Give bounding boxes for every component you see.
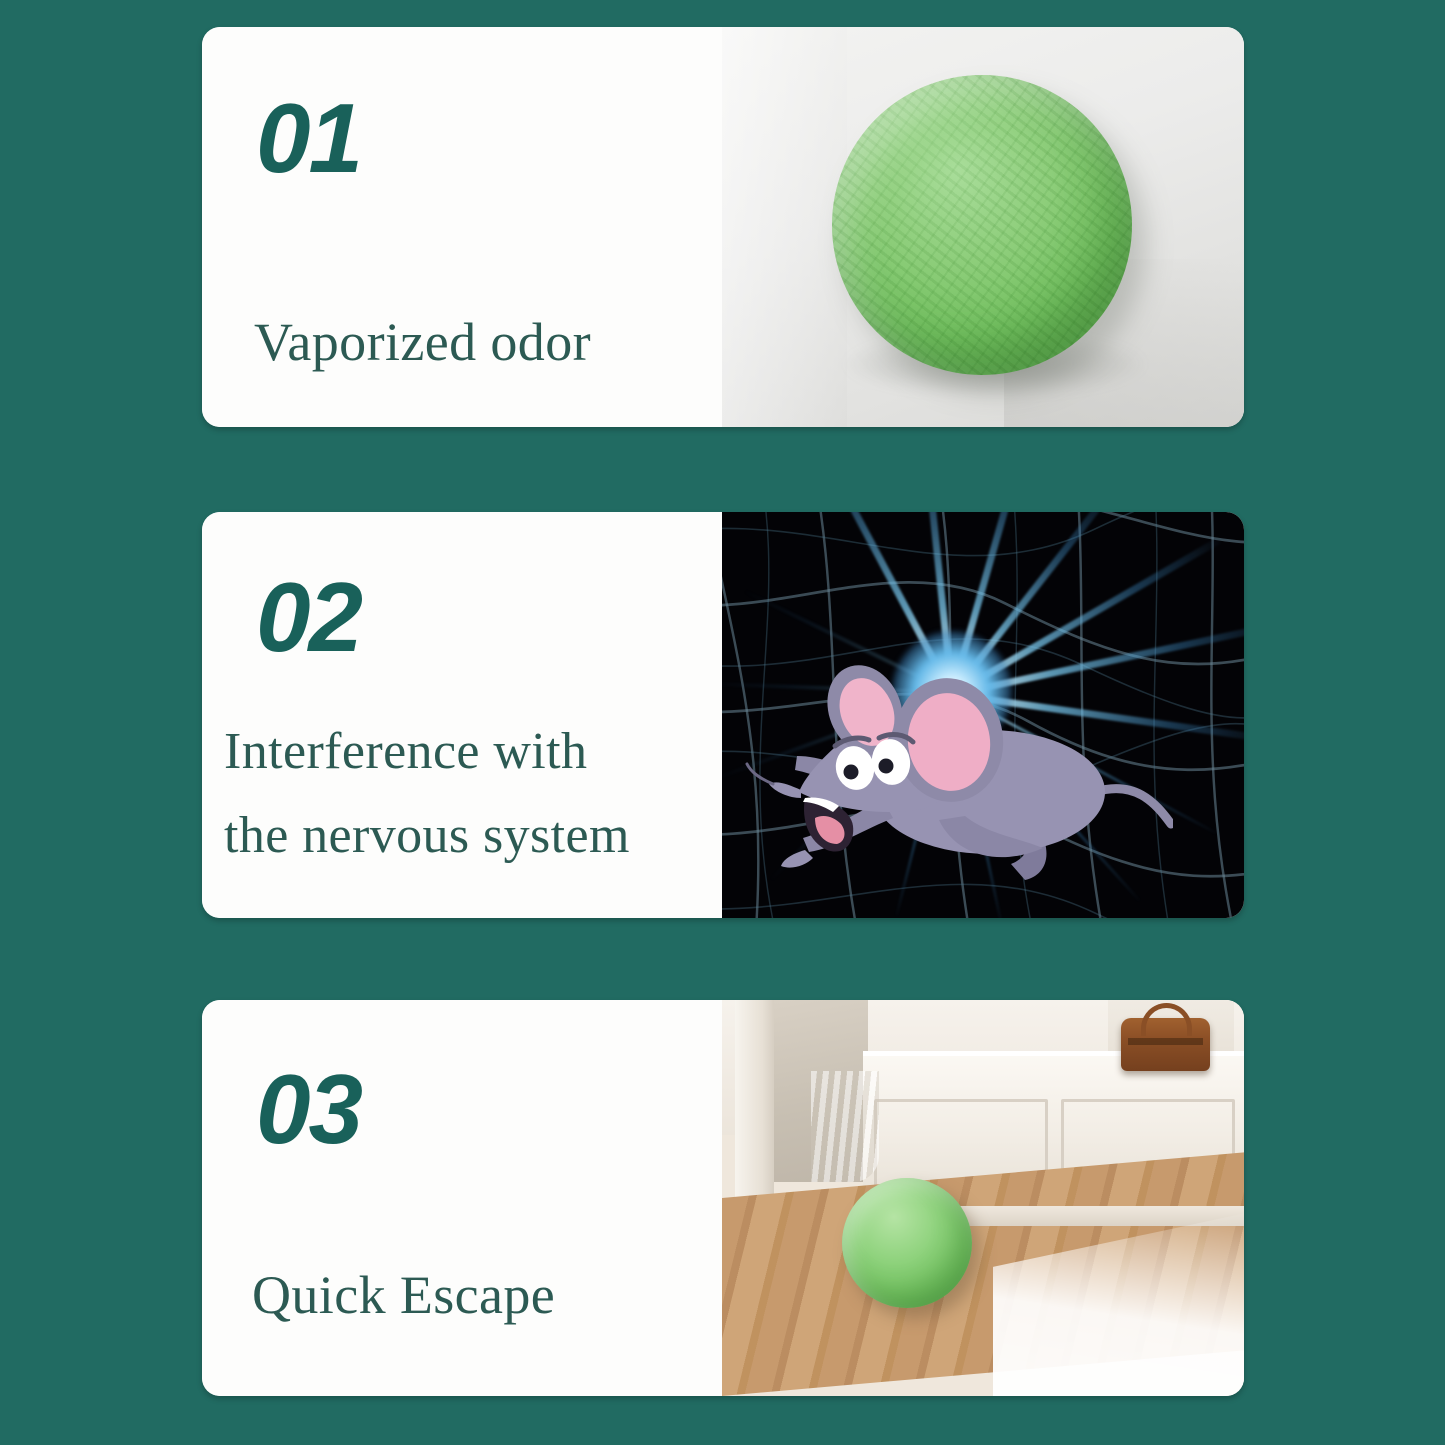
feature-card-1[interactable]: 01 Vaporized odor	[202, 27, 1244, 427]
green-repellent-ball-photo	[722, 27, 1244, 427]
sheer-curtain	[811, 1071, 879, 1182]
card-2-step-number: 02	[256, 568, 361, 666]
leather-bag	[1121, 1018, 1210, 1071]
card-3-media	[722, 1000, 1244, 1396]
card-2-media	[722, 512, 1244, 918]
room-floor-ball-photo	[722, 1000, 1244, 1396]
green-ball	[832, 75, 1132, 375]
card-3-step-number: 03	[256, 1060, 361, 1158]
backdrop-highlight-left	[722, 27, 847, 427]
card-2-caption: Interference with the nervous system	[224, 710, 708, 878]
card-3-text-panel: 03 Quick Escape	[202, 1000, 722, 1396]
card-3-caption: Quick Escape	[252, 1252, 708, 1339]
card-1-caption: Vaporized odor	[254, 299, 708, 386]
feature-card-3[interactable]: 03 Quick Escape	[202, 1000, 1244, 1396]
green-ball	[842, 1178, 972, 1308]
card-2-text-panel: 02 Interference with the nervous system	[202, 512, 722, 918]
card-1-text-panel: 01 Vaporized odor	[202, 27, 722, 427]
mouse-nervous-system-photo	[722, 512, 1244, 918]
card-1-media	[722, 27, 1244, 427]
card-1-step-number: 01	[256, 89, 361, 187]
feature-card-2[interactable]: 02 Interference with the nervous system	[202, 512, 1244, 918]
cartoon-mouse	[743, 652, 1173, 902]
infographic-page: 01 Vaporized odor 02 Interference with t…	[0, 0, 1445, 1445]
